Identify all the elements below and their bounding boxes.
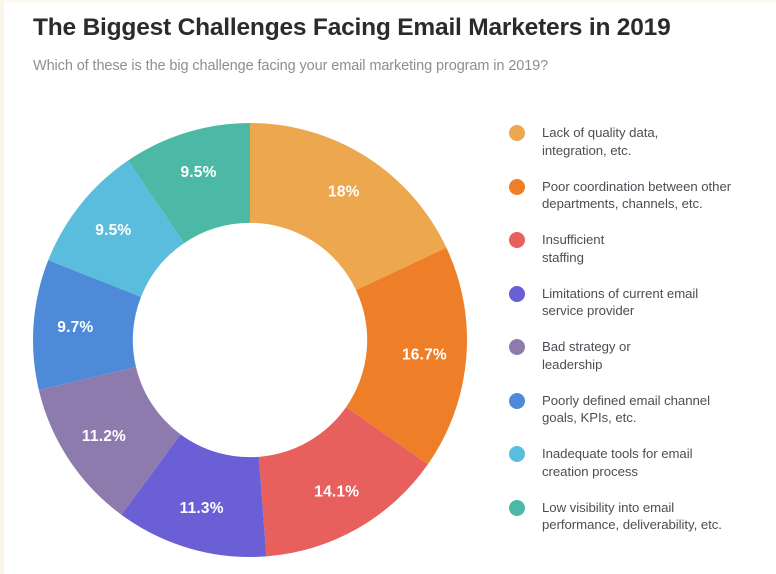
legend-label-line1: Low visibility into email	[542, 500, 674, 515]
legend-item-label: Insufficientstaffing	[542, 231, 771, 266]
donut-slice-value-label: 9.5%	[180, 164, 216, 181]
donut-slice-value-label: 9.7%	[57, 319, 93, 336]
legend-item-label: Limitations of current emailservice prov…	[542, 285, 771, 320]
legend-label-line1: Inadequate tools for email	[542, 446, 692, 461]
legend-item-label: Inadequate tools for emailcreation proce…	[542, 445, 771, 480]
page-subtitle: Which of these is the big challenge faci…	[33, 58, 548, 74]
legend-label-line1: Lack of quality data,	[542, 125, 658, 140]
page-title: The Biggest Challenges Facing Email Mark…	[33, 14, 671, 42]
legend-label-line2: performance, deliverability, etc.	[542, 516, 771, 534]
legend-item[interactable]: Limitations of current emailservice prov…	[509, 285, 771, 320]
legend-item-label: Poorly defined email channelgoals, KPIs,…	[542, 392, 771, 427]
donut-chart: 18%16.7%14.1%11.3%11.2%9.7%9.5%9.5%	[33, 123, 467, 557]
legend-label-line1: Poor coordination between other	[542, 179, 731, 194]
legend-label-line1: Bad strategy or	[542, 339, 631, 354]
chart-page: The Biggest Challenges Facing Email Mark…	[0, 0, 776, 574]
donut-slice-value-label: 14.1%	[314, 484, 359, 501]
legend-label-line1: Limitations of current email	[542, 286, 698, 301]
legend-label-line1: Insufficient	[542, 232, 604, 247]
legend-swatch-icon	[509, 500, 525, 516]
legend-swatch-icon	[509, 339, 525, 355]
legend-swatch-icon	[509, 232, 525, 248]
legend-item[interactable]: Inadequate tools for emailcreation proce…	[509, 445, 771, 480]
legend-swatch-icon	[509, 179, 525, 195]
legend-label-line2: departments, channels, etc.	[542, 195, 771, 213]
legend-label-line2: staffing	[542, 249, 771, 267]
legend-swatch-icon	[509, 393, 525, 409]
legend-item-label: Low visibility into emailperformance, de…	[542, 499, 771, 534]
legend-label-line2: goals, KPIs, etc.	[542, 409, 771, 427]
legend-label-line2: integration, etc.	[542, 142, 771, 160]
legend-item[interactable]: Poor coordination between otherdepartmen…	[509, 178, 771, 213]
legend-swatch-icon	[509, 286, 525, 302]
legend-label-line2: creation process	[542, 463, 771, 481]
legend-item-label: Lack of quality data,integration, etc.	[542, 124, 771, 159]
donut-slices	[33, 123, 467, 557]
legend-item[interactable]: Insufficientstaffing	[509, 231, 771, 266]
legend-item[interactable]: Poorly defined email channelgoals, KPIs,…	[509, 392, 771, 427]
legend-item[interactable]: Low visibility into emailperformance, de…	[509, 499, 771, 534]
legend-swatch-icon	[509, 446, 525, 462]
left-border-strip	[0, 0, 4, 574]
chart-legend: Lack of quality data,integration, etc.Po…	[509, 124, 771, 552]
donut-chart-svg: 18%16.7%14.1%11.3%11.2%9.7%9.5%9.5%	[33, 123, 467, 557]
top-border-strip	[0, 0, 776, 3]
legend-label-line2: leadership	[542, 356, 771, 374]
legend-label-line2: service provider	[542, 302, 771, 320]
donut-slice-value-label: 16.7%	[402, 346, 447, 363]
donut-slice-value-label: 11.3%	[180, 500, 224, 517]
donut-slice-value-label: 9.5%	[95, 222, 131, 239]
legend-item-label: Poor coordination between otherdepartmen…	[542, 178, 771, 213]
legend-item[interactable]: Bad strategy orleadership	[509, 338, 771, 373]
donut-slice-value-label: 18%	[328, 184, 360, 201]
legend-item-label: Bad strategy orleadership	[542, 338, 771, 373]
legend-label-line1: Poorly defined email channel	[542, 393, 710, 408]
donut-slice-value-label: 11.2%	[82, 428, 126, 445]
legend-item[interactable]: Lack of quality data,integration, etc.	[509, 124, 771, 159]
legend-swatch-icon	[509, 125, 525, 141]
